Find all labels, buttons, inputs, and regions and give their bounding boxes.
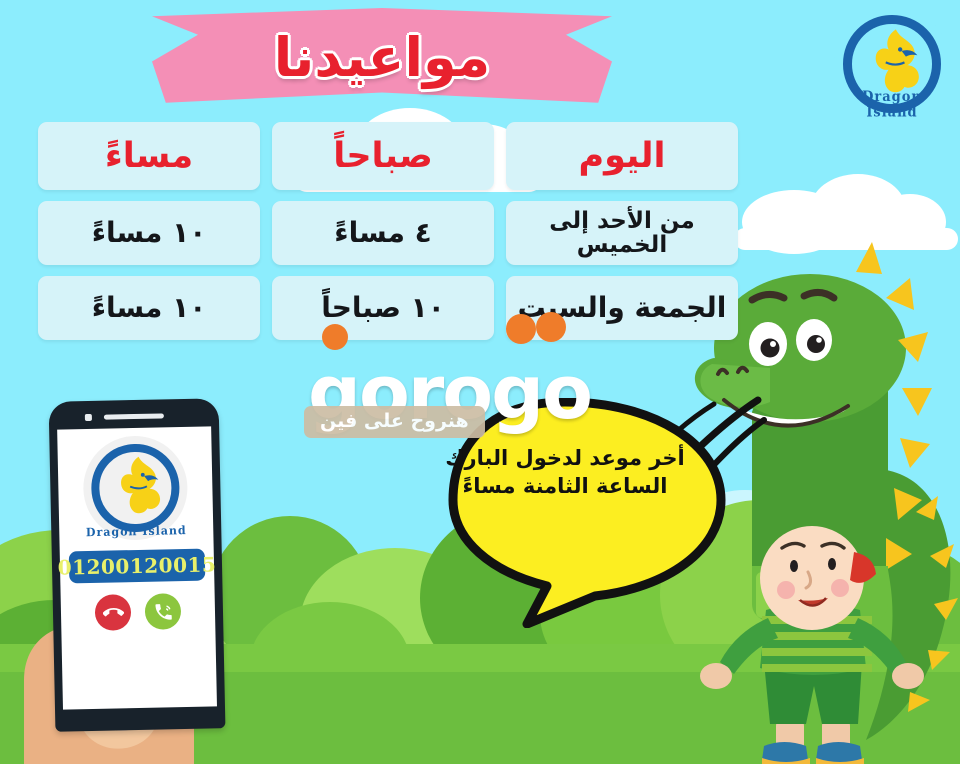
speech-bubble-text: أخر موعد لدخول البارك الساعة الثامنة مسا… [429, 444, 701, 501]
cell-morning: ٤ مساءً [272, 201, 494, 265]
phone-accept-icon[interactable] [145, 593, 182, 630]
brand-name: Dragon Island [834, 89, 950, 121]
cell-evening: ١٠ مساءً [38, 276, 260, 340]
cell-evening: ١٠ مساءً [38, 201, 260, 265]
phone-mockup: Dragon Island 01200120015 [49, 398, 226, 731]
cell-value-evening: ١٠ مساءً [92, 293, 207, 322]
header-cell-morning: صباحاً [272, 122, 494, 190]
header-cell-day: اليوم [506, 122, 738, 190]
page-title: مواعيدنا [152, 8, 612, 111]
cell-value-evening: ١٠ مساءً [92, 218, 207, 247]
header-label-day: اليوم [578, 139, 665, 174]
header-label-morning: صباحاً [333, 139, 433, 174]
header-cell-evening: مساءً [38, 122, 260, 190]
dragon-logo-icon: Dragon Island [82, 435, 188, 541]
cell-day: من الأحد إلى الخميس [506, 201, 738, 265]
dragon-glyph-icon [103, 452, 169, 518]
phone-decline-icon[interactable] [95, 594, 132, 631]
header-label-evening: مساءً [105, 139, 193, 174]
poster-root: مواعيدنا Dragon Island اليوم صباحاً مساء… [0, 0, 960, 764]
dragon-glyph-icon [857, 25, 929, 97]
schedule-table: اليوم صباحاً مساءً من الأحد إلى الخميس ٤… [38, 122, 738, 340]
cell-morning: ١٠ صباحاً [272, 276, 494, 340]
brand-name: Dragon Island [84, 524, 188, 540]
speech-bubble: أخر موعد لدخول البارك الساعة الثامنة مسا… [395, 398, 735, 628]
cell-value-morning: ٤ مساءً [334, 218, 432, 247]
phone-speaker-icon [104, 413, 164, 419]
bubble-line-2: الساعة الثامنة مساءً [429, 472, 701, 500]
table-header-row: اليوم صباحاً مساءً [38, 122, 738, 190]
banner: مواعيدنا [152, 8, 612, 111]
cell-value-day: من الأحد إلى الخميس [512, 209, 732, 257]
dragon-logo-icon[interactable]: Dragon Island [834, 6, 950, 122]
phone-number: 01200120015 [69, 549, 206, 584]
cell-value-day: الجمعة والسبت [518, 293, 727, 322]
cell-value-morning: ١٠ صباحاً [321, 293, 445, 322]
table-row: الجمعة والسبت ١٠ صباحاً ١٠ مساءً [38, 276, 738, 340]
phone-camera-icon [85, 414, 92, 421]
bubble-line-1: أخر موعد لدخول البارك [429, 444, 701, 472]
cell-day: الجمعة والسبت [506, 276, 738, 340]
table-row: من الأحد إلى الخميس ٤ مساءً ١٠ مساءً [38, 201, 738, 265]
phone-screen: Dragon Island 01200120015 [57, 426, 217, 709]
call-actions [61, 592, 216, 631]
